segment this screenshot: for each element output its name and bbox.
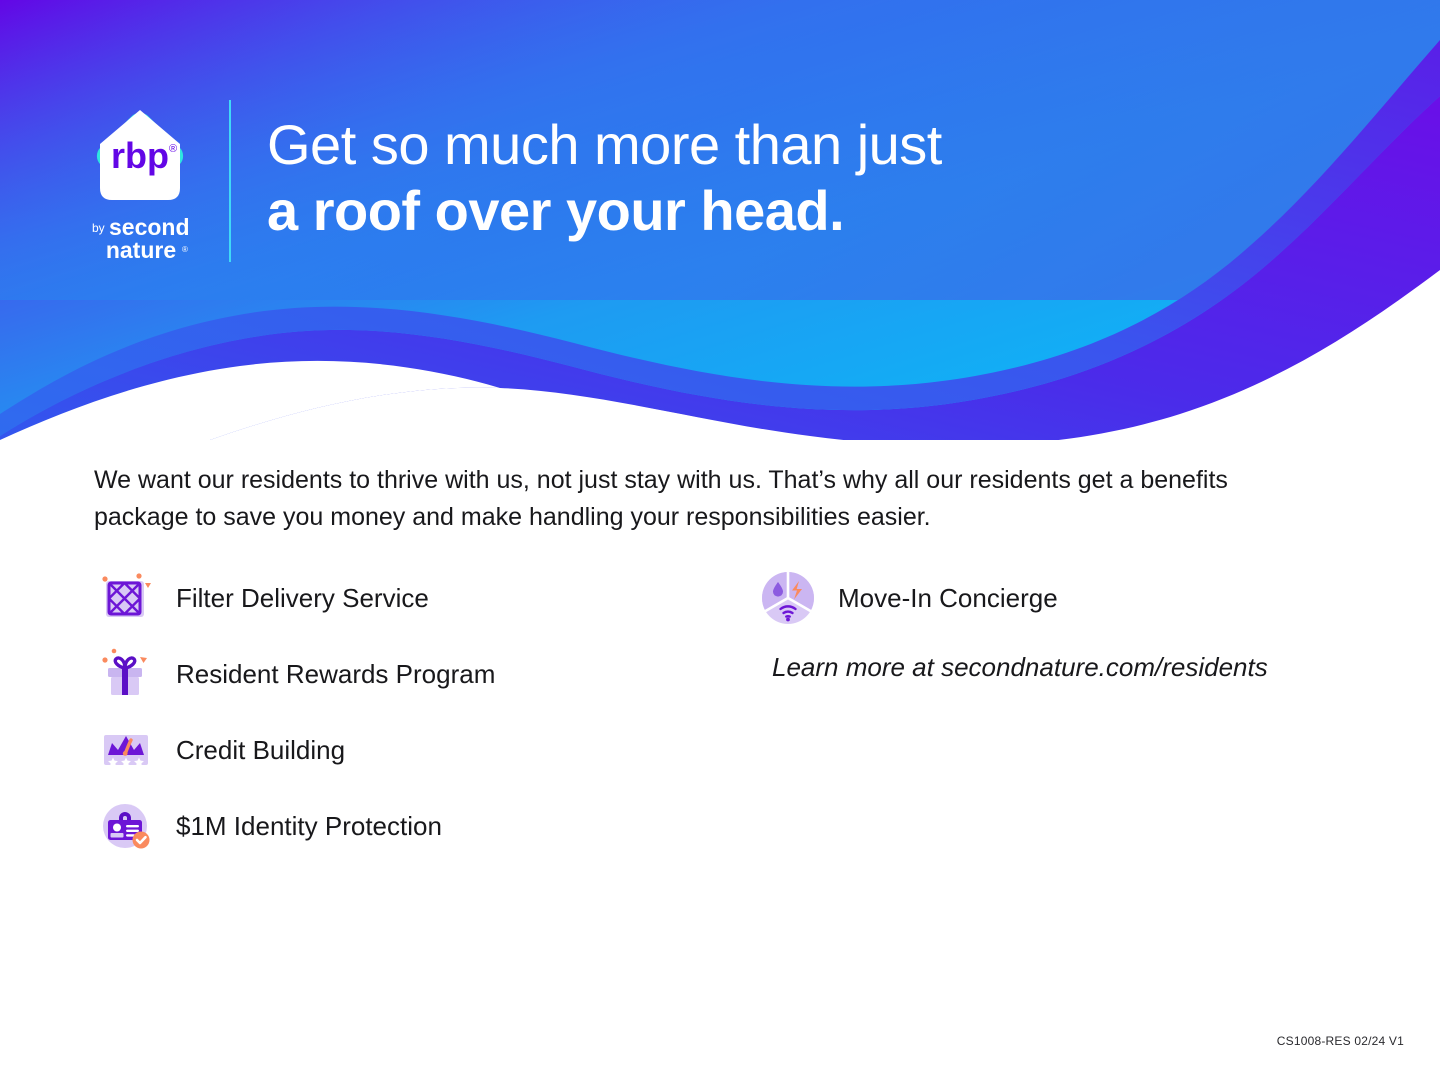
credit-gauge-stars-icon [98,722,154,778]
benefit-item-resident-rewards-program: Resident Rewards Program [98,636,718,712]
benefits-left-column: Filter Delivery Service Resident Rewards… [98,560,718,864]
byline-registered-mark: ® [182,245,188,254]
learn-more-text: Learn more at secondnature.com/residents [772,652,1268,683]
intro-paragraph: We want our residents to thrive with us,… [94,462,1309,536]
benefit-item-move-in-concierge: Move-In Concierge [760,560,1380,636]
benefits-right-column: Move-In Concierge [760,560,1380,636]
logo-registered-mark: ® [169,143,177,155]
benefit-label: Credit Building [176,735,345,766]
headline-line-2: a roof over your head. [267,178,942,244]
gift-box-icon [98,646,154,702]
benefit-item-credit-building: Credit Building [98,712,718,788]
benefit-item-filter-delivery-service: Filter Delivery Service [98,560,718,636]
benefit-label: Move-In Concierge [838,583,1058,614]
rbp-house-logo-icon: rbp ® [88,104,192,208]
logo-wordmark-text: rbp [111,135,169,176]
air-filter-icon [98,570,154,626]
headline-line-1: Get so much more than just [267,112,942,178]
byline-line2-text: nature [106,237,176,263]
benefit-label: Resident Rewards Program [176,659,495,690]
document-code: CS1008-RES 02/24 V1 [1277,1034,1404,1048]
benefit-label: Filter Delivery Service [176,583,429,614]
benefit-item-identity-protection: $1M Identity Protection [98,788,718,864]
page-title: Get so much more than just a roof over y… [267,112,942,244]
second-nature-byline: by second nature ® [88,212,194,268]
utilities-water-power-wifi-icon [760,570,816,626]
header-divider [229,100,231,262]
benefit-label: $1M Identity Protection [176,811,442,842]
byline-small-text: by [92,221,105,235]
id-card-shield-check-icon [98,798,154,854]
brand-logo: rbp ® by second nature ® [88,104,206,264]
